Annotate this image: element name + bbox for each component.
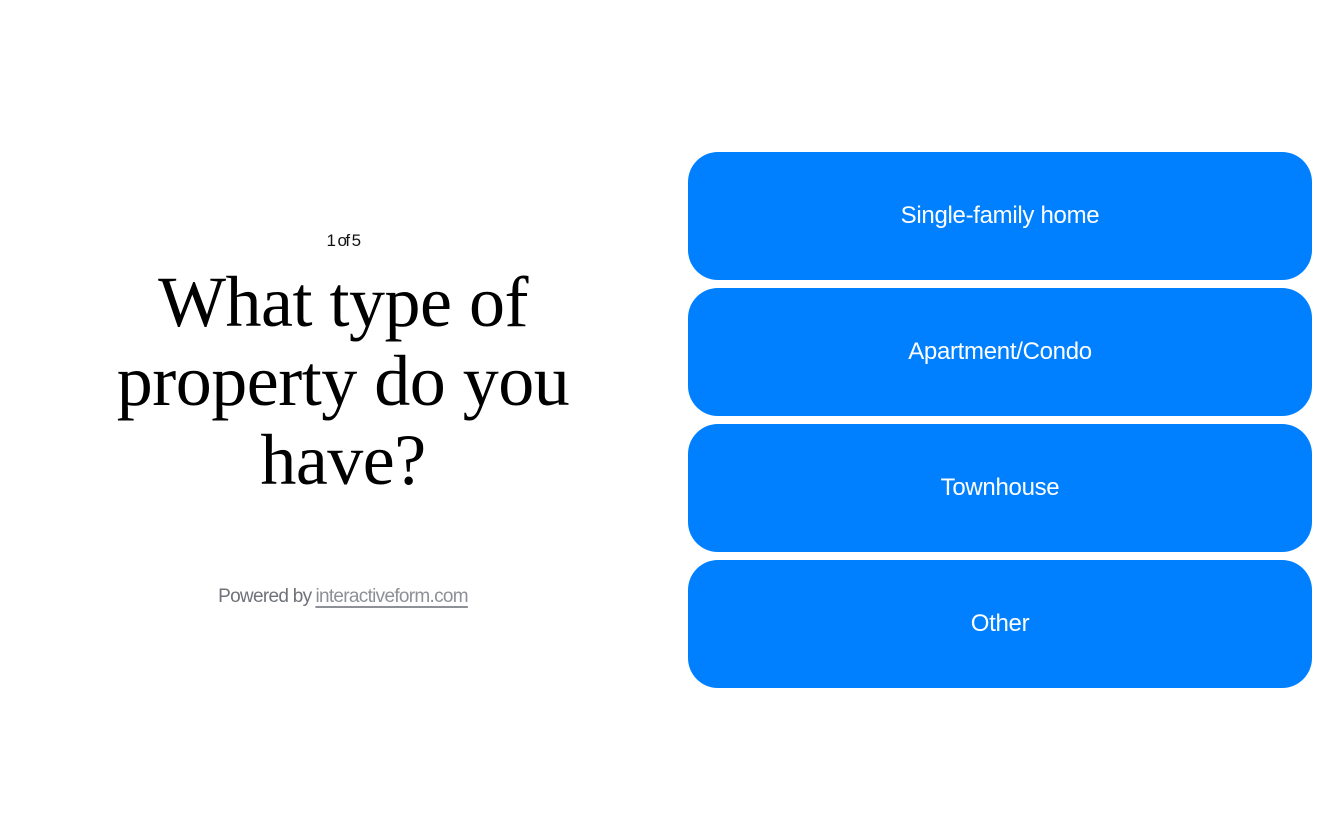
- question-panel: 1 of 5 What type of property do you have…: [64, 0, 622, 840]
- interactiveform-link[interactable]: interactiveform.com: [315, 586, 467, 607]
- form-stage: 1 of 5 What type of property do you have…: [0, 0, 1344, 840]
- answer-option-single-family-home[interactable]: Single-family home: [688, 152, 1312, 280]
- step-counter: 1 of 5: [327, 232, 360, 249]
- powered-by-footer: Powered byinteractiveform.com: [218, 586, 468, 608]
- answer-option-apartment-condo[interactable]: Apartment/Condo: [688, 288, 1312, 416]
- answer-option-other[interactable]: Other: [688, 560, 1312, 688]
- powered-by-label: Powered by: [218, 586, 311, 607]
- answer-options-list: Single-family home Apartment/Condo Townh…: [688, 152, 1312, 688]
- answer-option-townhouse[interactable]: Townhouse: [688, 424, 1312, 552]
- question-title: What type of property do you have?: [108, 263, 578, 501]
